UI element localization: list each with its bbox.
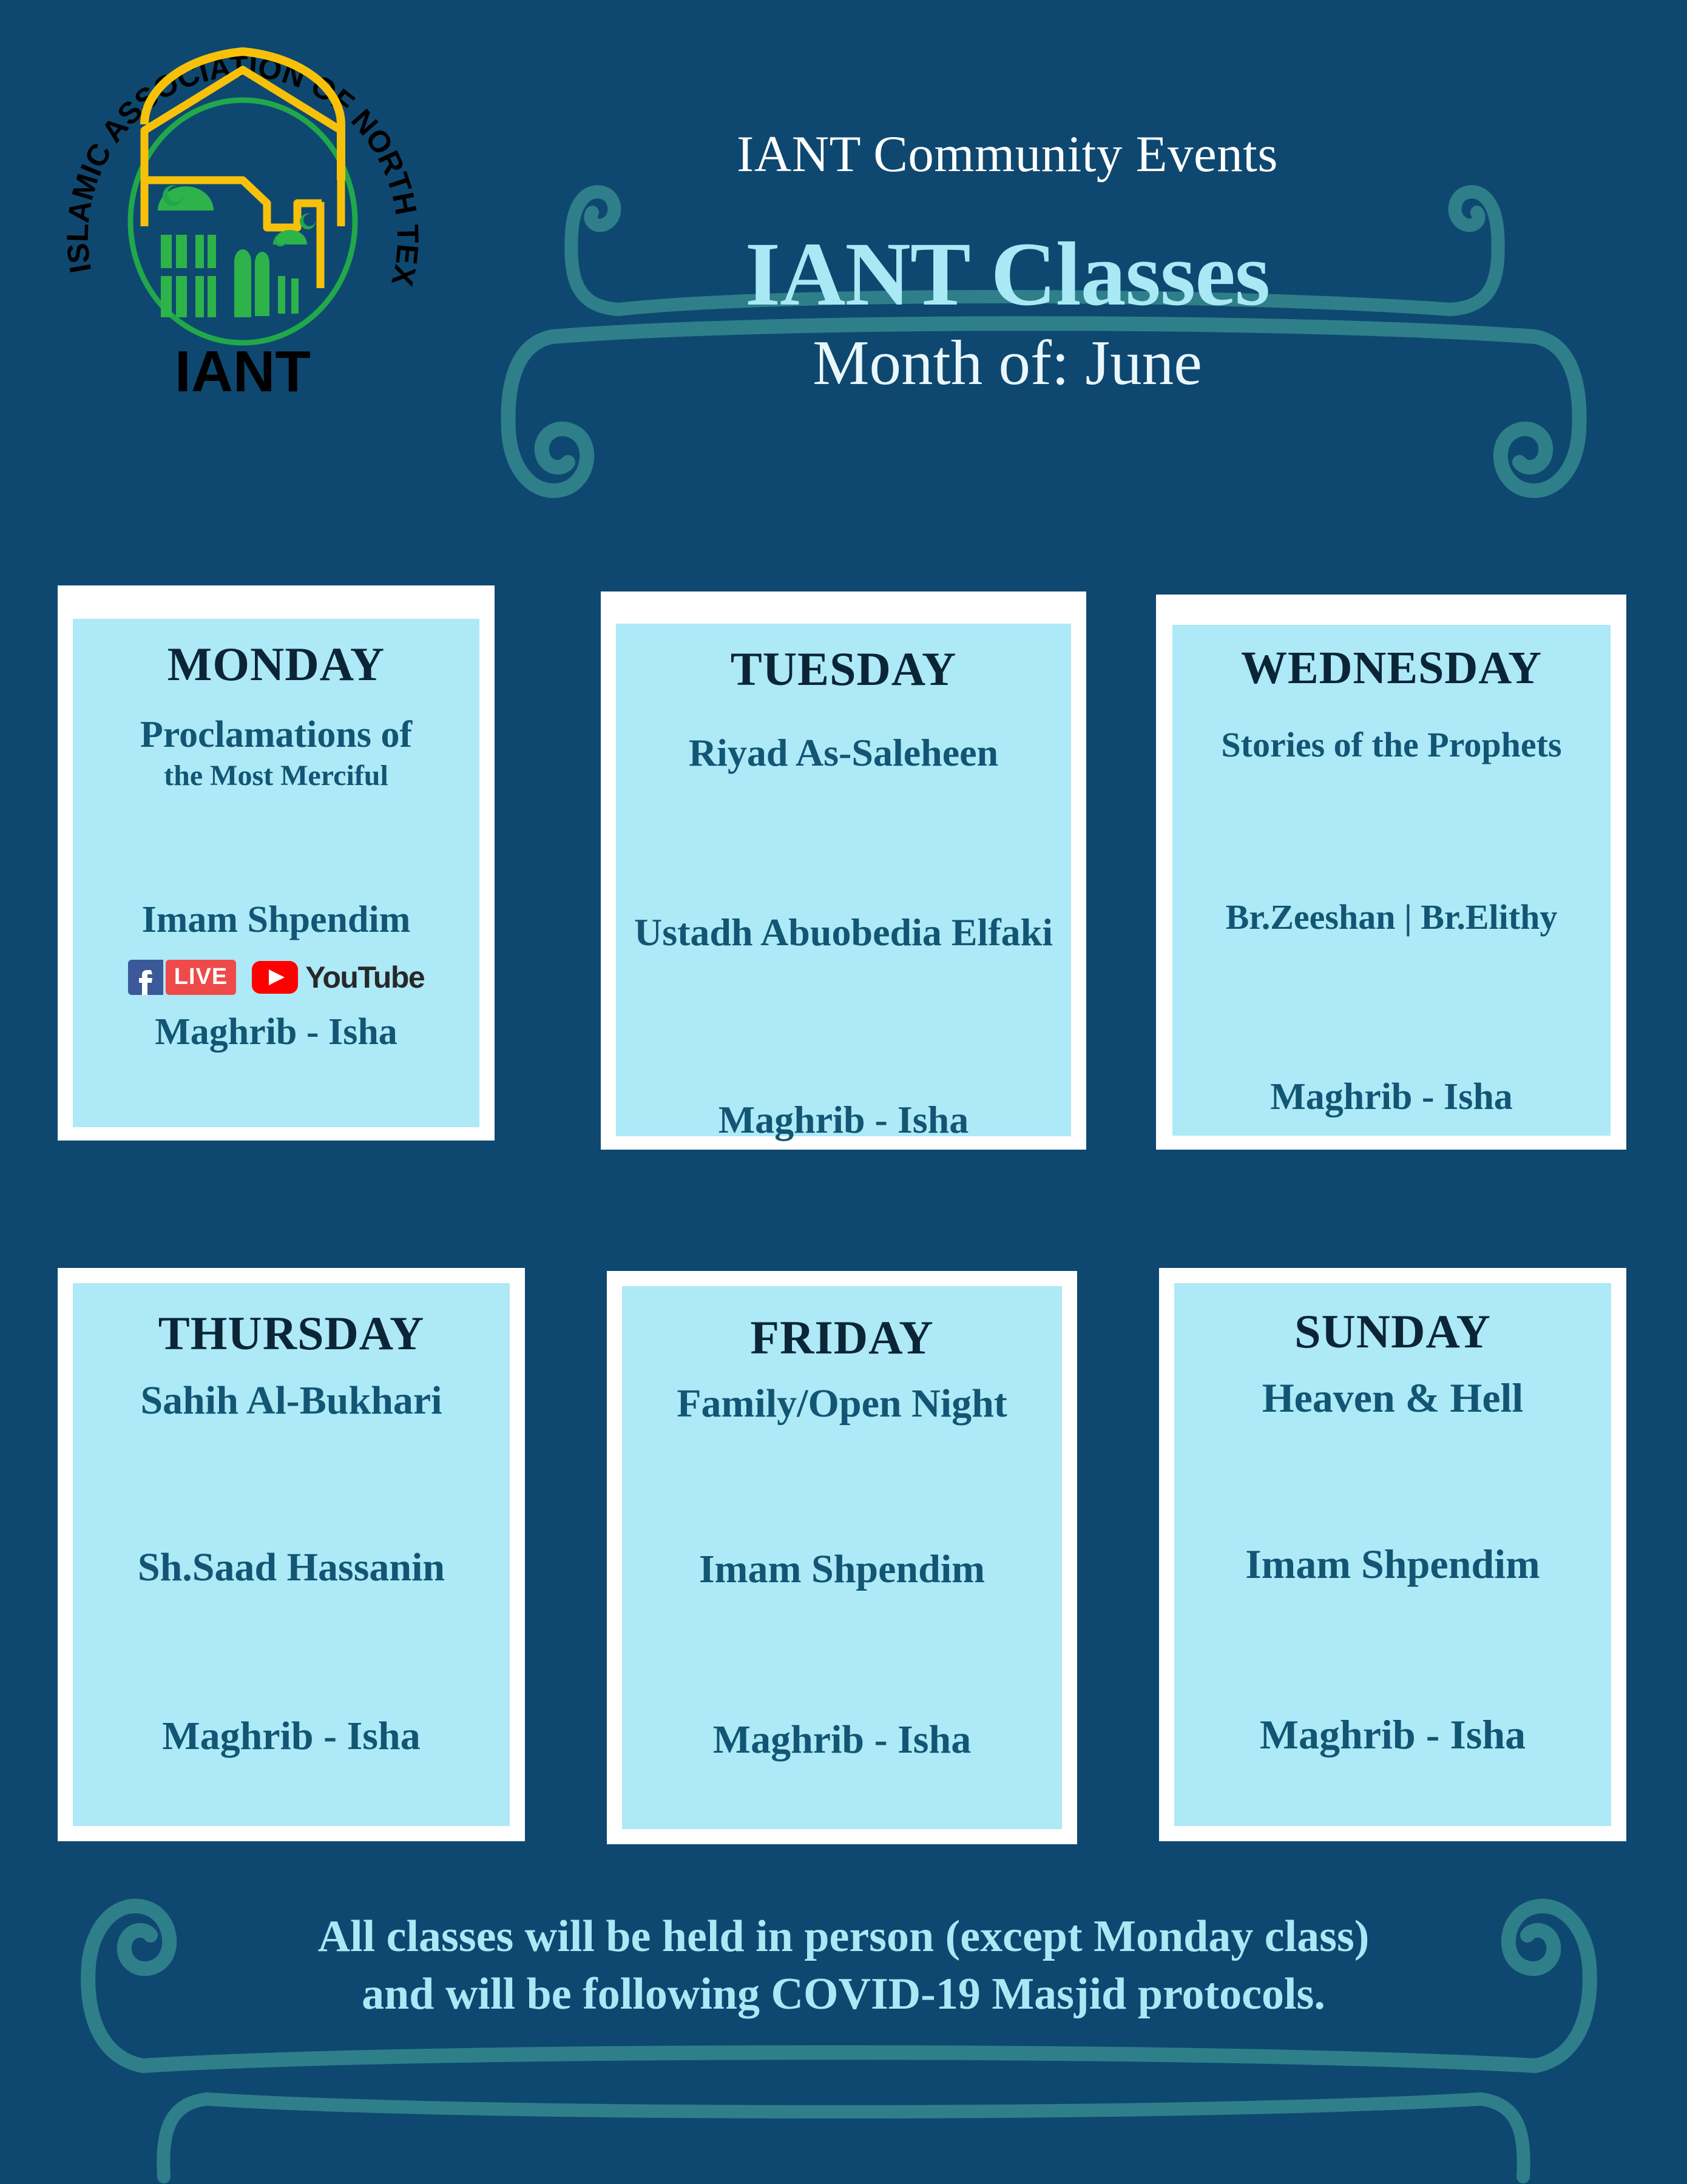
class-timing: Maghrib - Isha — [162, 1713, 420, 1759]
class-title: Riyad As-Saleheen — [689, 732, 998, 773]
teacher-name: Imam Shpendim — [699, 1546, 985, 1592]
logo-ring-text: ISLAMIC ASSOCIATION OF NORTH TEXAS — [36, 21, 425, 289]
day-card-tuesday[interactable]: TUESDAY Riyad As-Saleheen Ustadh Abuobed… — [601, 591, 1086, 1150]
footer-note: All classes will be held in person (exce… — [42, 1908, 1645, 2023]
day-label: FRIDAY — [750, 1310, 933, 1365]
live-label: LIVE — [166, 960, 236, 995]
teacher-name: Br.Zeeshan | Br.Elithy — [1226, 897, 1558, 937]
day-card-sunday[interactable]: SUNDAY Heaven & Hell Imam Shpendim Maghr… — [1159, 1268, 1626, 1841]
day-label: WEDNESDAY — [1241, 642, 1542, 695]
day-label: SUNDAY — [1294, 1304, 1491, 1359]
class-timing: Maghrib - Isha — [155, 1011, 397, 1054]
facebook-live-badge[interactable]: LIVE — [128, 960, 236, 995]
logo-wordmark: IANT — [175, 339, 311, 404]
class-title: Family/Open Night — [677, 1382, 1007, 1425]
youtube-label: YouTube — [305, 960, 424, 995]
day-card-friday[interactable]: FRIDAY Family/Open Night Imam Shpendim M… — [607, 1271, 1077, 1844]
stream-badges: LIVE YouTube — [128, 960, 424, 995]
facebook-icon — [128, 960, 163, 995]
class-timing: Maghrib - Isha — [1260, 1711, 1526, 1759]
class-timing: Maghrib - Isha — [718, 1097, 969, 1142]
class-title: Sahih Al-Bukhari — [140, 1379, 442, 1422]
day-label: MONDAY — [167, 637, 385, 692]
teacher-name: Imam Shpendim — [142, 898, 411, 942]
class-title: Proclamations of — [140, 715, 412, 755]
youtube-badge[interactable]: YouTube — [252, 960, 424, 995]
header: IANT Community Events IANT Classes Month… — [479, 127, 1687, 504]
footer-note-line-2: and will be following COVID-19 Masjid pr… — [42, 1966, 1645, 2023]
class-schedule-grid: MONDAY Proclamations of the Most Mercifu… — [0, 576, 1687, 1881]
class-timing: Maghrib - Isha — [713, 1717, 971, 1763]
class-title: Heaven & Hell — [1262, 1376, 1524, 1420]
teacher-name: Imam Shpendim — [1245, 1540, 1540, 1588]
footer-note-line-1: All classes will be held in person (exce… — [42, 1908, 1645, 1966]
month-subtitle: Month of: June — [479, 328, 1535, 398]
iant-logo: ISLAMIC ASSOCIATION OF NORTH TEXAS — [36, 21, 449, 446]
class-title-sub: the Most Merciful — [164, 759, 388, 792]
class-title: Stories of the Prophets — [1221, 726, 1561, 764]
day-card-wednesday[interactable]: WEDNESDAY Stories of the Prophets Br.Zee… — [1156, 595, 1626, 1150]
header-eyebrow: IANT Community Events — [479, 127, 1535, 181]
svg-text:ISLAMIC ASSOCIATION OF NORTH T: ISLAMIC ASSOCIATION OF NORTH TEXAS — [36, 21, 425, 289]
youtube-play-icon — [252, 961, 298, 994]
page-title: IANT Classes — [479, 224, 1535, 325]
day-card-thursday[interactable]: THURSDAY Sahih Al-Bukhari Sh.Saad Hassan… — [58, 1268, 525, 1841]
teacher-name: Sh.Saad Hassanin — [138, 1545, 445, 1591]
teacher-name: Ustadh Abuobedia Elfaki — [634, 910, 1053, 955]
class-timing: Maghrib - Isha — [1270, 1076, 1513, 1119]
day-label: THURSDAY — [158, 1306, 425, 1361]
day-label: TUESDAY — [731, 642, 957, 696]
day-card-monday[interactable]: MONDAY Proclamations of the Most Mercifu… — [58, 585, 495, 1141]
footer: All classes will be held in person (exce… — [42, 1875, 1645, 2184]
